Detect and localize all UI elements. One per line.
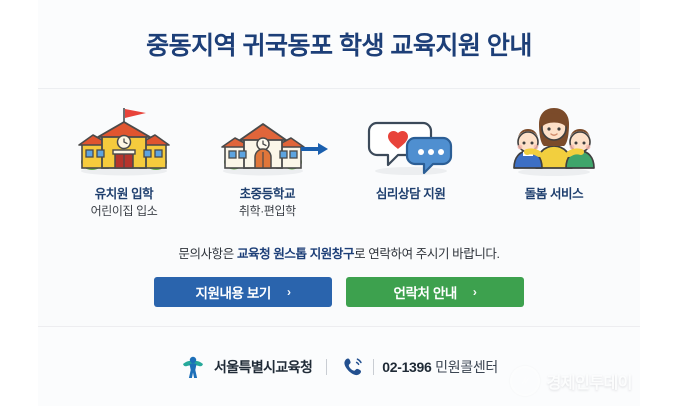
organization-group: 서울특별시교육청 <box>180 354 312 380</box>
notice-suffix: 로 연락하여 주시기 바랍니다. <box>354 247 500 261</box>
button-label: 언락처 안내 <box>393 282 456 302</box>
contact-phone-number: 02-1396 민원콜센터 <box>382 357 498 377</box>
family-group-icon <box>506 102 602 178</box>
phone-call-icon <box>341 355 365 379</box>
footer-divider <box>326 359 327 375</box>
service-item-counselling[interactable]: 심리상담 지원 <box>345 102 477 203</box>
chevron-right-icon: › <box>287 285 291 299</box>
footer-bar: 서울특별시교육청 02-1396 민원콜센터 <box>38 326 640 406</box>
service-label-counselling: 심리상담 지원 <box>376 186 446 203</box>
service-label-line2: 어린이집 입소 <box>91 203 158 219</box>
speech-bubbles-heart-icon <box>363 102 459 178</box>
chevron-right-icon: › <box>473 285 477 299</box>
service-item-school-enrollment[interactable]: 초중등학교 취학·편입학 <box>201 102 333 219</box>
service-item-care[interactable]: 돌봄 서비스 <box>488 102 620 203</box>
page-title: 중동지역 귀국동포 학생 교육지원 안내 <box>146 26 532 62</box>
footer-divider-2 <box>373 359 374 375</box>
service-item-kindergarten[interactable]: 유치원 입학 어린이집 입소 <box>58 102 190 219</box>
button-label: 지원내용 보기 <box>195 282 270 302</box>
right-arrow-icon <box>301 142 329 156</box>
view-support-details-button[interactable]: 지원내용 보기 › <box>154 277 332 307</box>
notice-highlight: 교육청 원스톱 지원창구 <box>237 247 354 261</box>
service-label-school-enrollment: 초중등학교 취학·편입학 <box>239 186 296 219</box>
notice-prefix: 문의사항은 <box>178 247 237 261</box>
call-center-label: 민원콜센터 <box>435 359 498 375</box>
service-label-line1: 심리상담 지원 <box>376 186 446 203</box>
service-label-line2: 취학·편입학 <box>239 203 296 219</box>
service-label-line1: 유치원 입학 <box>91 186 158 203</box>
seoul-education-office-person-logo <box>180 354 206 380</box>
infographic-card: 중동지역 귀국동포 학생 교육지원 안내 <box>38 0 640 406</box>
white-school-building-icon <box>219 102 315 178</box>
notice-text: 문의사항은 교육청 원스톱 지원창구로 연락하여 주시기 바랍니다. <box>38 243 640 262</box>
service-label-kindergarten: 유치원 입학 어린이집 입소 <box>91 186 158 219</box>
page-title-banner: 중동지역 귀국동포 학생 교육지원 안내 <box>38 0 640 89</box>
service-label-care: 돌봄 서비스 <box>525 186 584 203</box>
service-label-line1: 돌봄 서비스 <box>525 186 584 203</box>
phone-group: 02-1396 민원콜센터 <box>341 355 498 379</box>
yellow-school-building-icon <box>76 102 172 178</box>
services-row: 유치원 입학 어린이집 입소 <box>58 102 620 219</box>
contact-info-button[interactable]: 언락처 안내 › <box>346 277 524 307</box>
service-label-line1: 초중등학교 <box>239 186 296 203</box>
phone-number: 02-1396 <box>382 359 431 375</box>
cta-button-row: 지원내용 보기 › 언락처 안내 › <box>38 277 640 307</box>
organization-name: 서울특별시교육청 <box>214 357 312 377</box>
